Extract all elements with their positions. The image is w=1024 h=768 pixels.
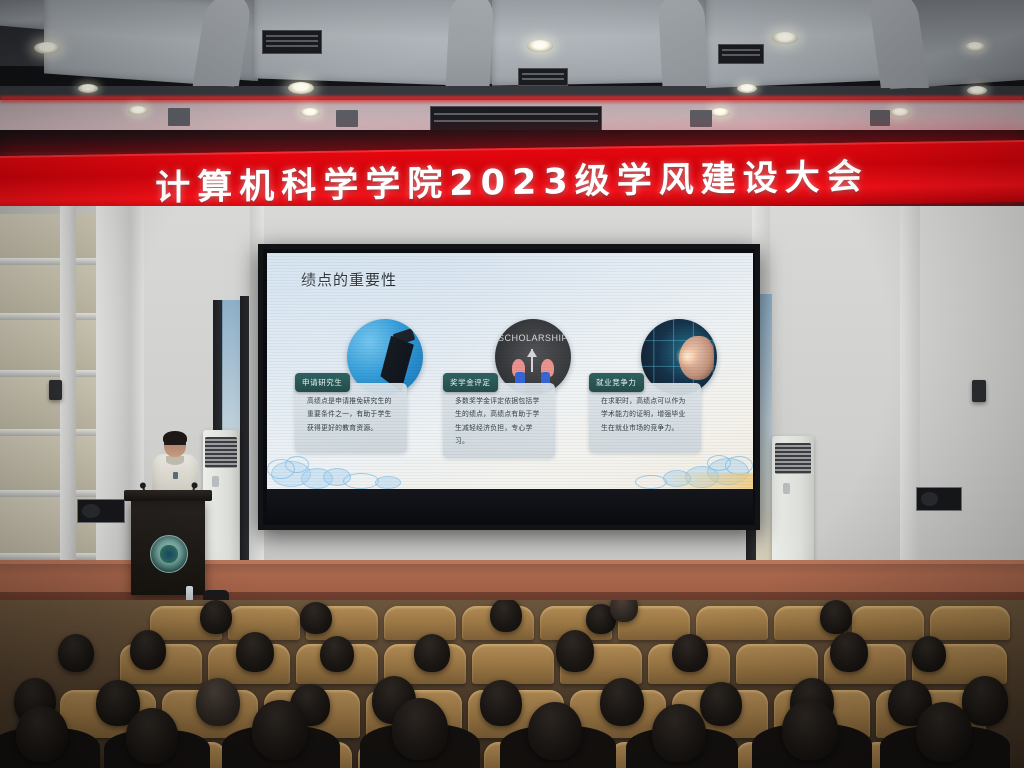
audience-member bbox=[490, 600, 522, 632]
ceiling-downlight bbox=[772, 32, 798, 44]
card-label: 申请研究生 bbox=[295, 373, 350, 392]
audience-member bbox=[600, 678, 644, 726]
audience-member bbox=[300, 602, 332, 634]
audience-member bbox=[556, 630, 594, 672]
audience-seating bbox=[0, 600, 1024, 768]
audience-member bbox=[414, 634, 450, 672]
air-conditioner-unit bbox=[772, 436, 814, 578]
card-label: 就业竞争力 bbox=[589, 373, 644, 392]
wall-speaker bbox=[972, 380, 986, 402]
lectern-podium bbox=[131, 499, 205, 595]
audience-member bbox=[672, 634, 708, 672]
ceiling-downlight bbox=[527, 40, 553, 52]
lecture-hall-photo: 计算机科学学院2023级学风建设大会 绩点的重要性 bbox=[0, 0, 1024, 768]
audience-member bbox=[320, 636, 354, 672]
acoustic-slat-panel bbox=[0, 214, 100, 614]
led-presentation-screen: 绩点的重要性 申请研究生 高绩点是申请推免研究生的重要条件之一，有助于学生获得更… bbox=[258, 244, 760, 530]
audience-member bbox=[652, 704, 706, 762]
ceiling bbox=[0, 0, 1024, 152]
audience-member bbox=[830, 632, 868, 672]
ceiling-downlight bbox=[967, 86, 987, 95]
university-crest-emblem bbox=[150, 535, 188, 573]
audience-member bbox=[200, 600, 232, 634]
audience-member bbox=[16, 706, 68, 762]
recessed-speaker-box bbox=[916, 487, 962, 511]
audience-member bbox=[196, 678, 240, 726]
ceiling-downlight bbox=[78, 84, 98, 93]
audience-member bbox=[126, 708, 178, 764]
audience-member bbox=[130, 630, 166, 670]
card-label: 奖学金评定 bbox=[443, 373, 498, 392]
audience-member bbox=[782, 700, 838, 760]
card-body-text: 高绩点是申请推免研究生的重要条件之一，有助于学生获得更好的教育资源。 bbox=[295, 383, 407, 453]
ceiling-downlight bbox=[737, 84, 757, 93]
slide-canvas: 绩点的重要性 申请研究生 高绩点是申请推免研究生的重要条件之一，有助于学生获得更… bbox=[267, 253, 753, 489]
audience-member bbox=[700, 682, 742, 726]
side-door-frame bbox=[240, 296, 249, 570]
card-body-text: 在求职时，高绩点可以作为学术能力的证明，增强毕业生在就业市场的竞争力。 bbox=[589, 383, 701, 453]
slide-title: 绩点的重要性 bbox=[301, 269, 397, 290]
audience-member bbox=[392, 698, 448, 760]
audience-member bbox=[610, 600, 638, 622]
ceiling-downlight bbox=[34, 42, 60, 54]
audience-member bbox=[58, 634, 94, 672]
wall-speaker bbox=[49, 380, 62, 400]
audience-member bbox=[236, 632, 274, 672]
screen-lower-panel bbox=[267, 489, 753, 521]
scholarship-image-text: SCHOLARSHIP bbox=[495, 333, 571, 343]
card-body-text: 多数奖学金评定依据包括学生的绩点，高绩点有助于学生减轻经济负担，专心学习。 bbox=[443, 383, 555, 458]
audience-member bbox=[528, 702, 582, 760]
audience-member bbox=[252, 700, 308, 760]
audience-member bbox=[912, 636, 946, 672]
recessed-speaker-box bbox=[77, 499, 125, 523]
audience-member bbox=[480, 680, 522, 726]
slide-card-group: 申请研究生 高绩点是申请推免研究生的重要条件之一，有助于学生获得更好的教育资源。… bbox=[295, 321, 725, 471]
ceiling-downlight bbox=[965, 42, 985, 51]
ceiling-downlight bbox=[288, 82, 314, 94]
audience-member bbox=[820, 600, 852, 634]
audience-member bbox=[916, 702, 972, 762]
